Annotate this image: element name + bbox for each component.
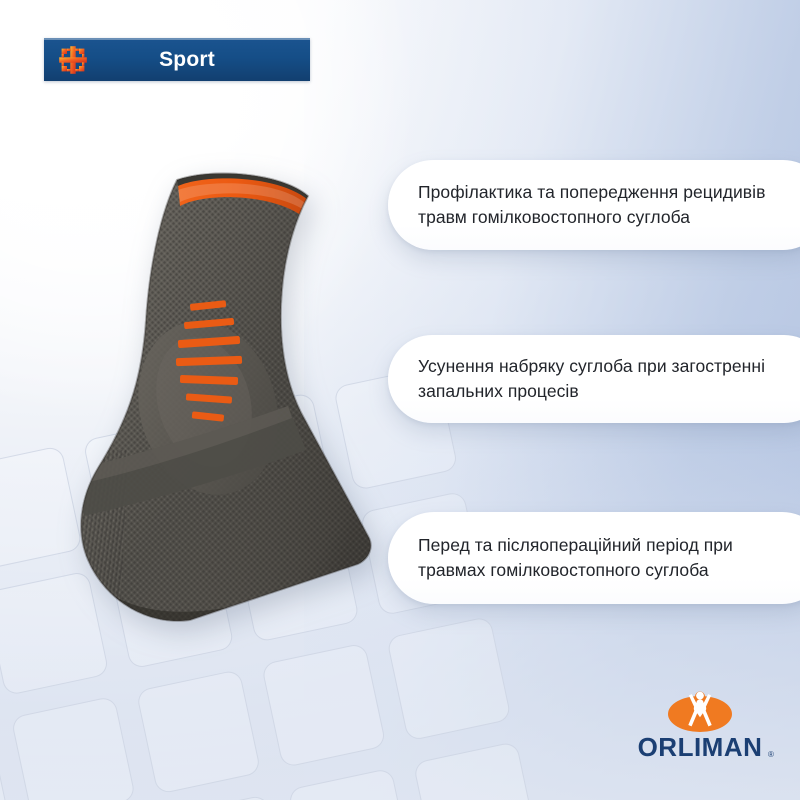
background-grid-square	[0, 722, 11, 800]
orliman-figure-in-ellipse-icon	[668, 692, 732, 733]
background-grid-square	[10, 696, 136, 800]
svg-text:ORLIMAN: ORLIMAN	[638, 732, 763, 762]
orliman-cross-icon	[58, 45, 88, 75]
background-grid-square	[261, 642, 387, 768]
category-title: Sport	[88, 48, 310, 72]
poster-canvas: Sport	[0, 0, 800, 800]
benefit-callout-2-text: Усунення набряку суглоба при загостренні…	[418, 354, 800, 405]
background-grid-square	[288, 768, 414, 800]
background-grid-square	[136, 669, 262, 795]
brand-logo: ORLIMAN ®	[620, 690, 780, 770]
benefit-callout-2: Усунення набряку суглоба при загостренні…	[388, 335, 800, 423]
background-grid-square	[162, 794, 288, 800]
benefit-callout-3-text: Перед та післяопераційний період при тра…	[418, 533, 800, 584]
svg-text:®: ®	[768, 750, 774, 759]
product-image	[58, 150, 398, 650]
benefit-callout-1: Профілактика та попередження рецидивів т…	[388, 160, 800, 250]
benefit-callout-1-text: Профілактика та попередження рецидивів т…	[418, 180, 800, 231]
background-grid-square	[386, 616, 512, 742]
brand-wordmark: ORLIMAN ®	[638, 732, 774, 762]
category-header-bar: Sport	[44, 38, 310, 81]
benefit-callout-3: Перед та післяопераційний період при тра…	[388, 512, 800, 604]
